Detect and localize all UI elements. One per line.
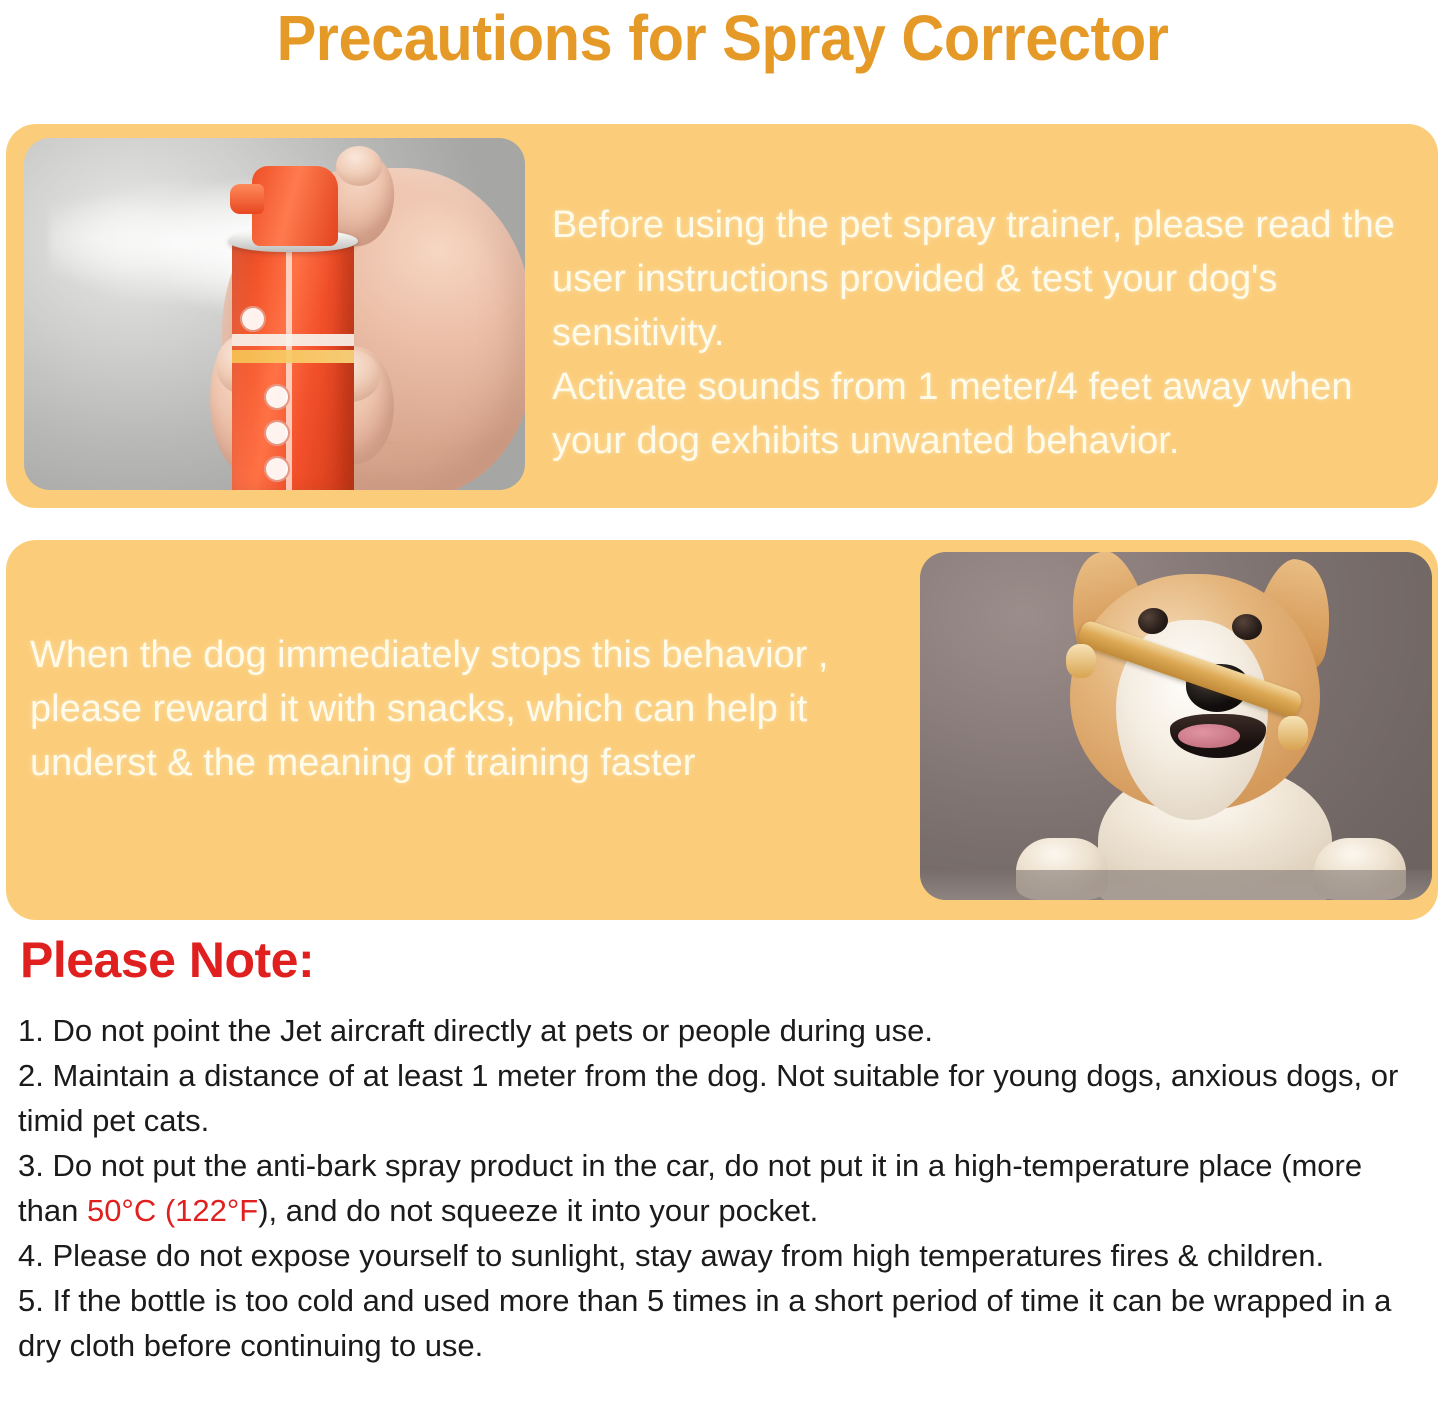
dog-floor-shape: [920, 870, 1432, 900]
spray-can-in-hand-photo: [24, 138, 525, 490]
can-warning-badge-icon: [240, 306, 266, 332]
can-no-heat-badge-icon: [264, 384, 290, 410]
page-title: Precautions for Spray Corrector: [51, 2, 1395, 74]
treat-knot-left-shape: [1066, 644, 1096, 678]
panel-two-text: When the dog immediately stops this beha…: [30, 628, 870, 790]
note-item-2: 2. Maintain a distance of at least 1 met…: [18, 1053, 1430, 1143]
note-item-4: 4. Please do not expose yourself to sunl…: [18, 1233, 1430, 1278]
note-item-5: 5. If the bottle is too cold and used mo…: [18, 1278, 1430, 1368]
note-item-1: 1. Do not point the Jet aircraft directl…: [18, 1008, 1430, 1053]
fingernail-shape: [336, 146, 382, 186]
treat-knot-right-shape: [1278, 716, 1308, 750]
note-item-3-after: ), and do not squeeze it into your pocke…: [258, 1193, 818, 1228]
can-no-flame-badge-icon: [264, 420, 290, 446]
can-white-stripe: [232, 334, 354, 346]
can-nozzle-tip-shape: [230, 184, 264, 214]
dog-tongue-shape: [1178, 724, 1240, 748]
note-list: 1. Do not point the Jet aircraft directl…: [18, 1008, 1430, 1368]
corgi-with-treat-photo: [920, 552, 1432, 900]
can-highlight-stripe: [286, 250, 292, 490]
note-item-3-temperature-highlight: 50°C (122°F: [87, 1193, 258, 1228]
please-note-heading: Please Note:: [20, 931, 314, 989]
can-recycle-badge-icon: [264, 456, 290, 482]
can-nozzle-shape: [252, 166, 338, 246]
note-item-3: 3. Do not put the anti-bark spray produc…: [18, 1143, 1430, 1233]
aerosol-can-shape: [232, 238, 354, 490]
can-gold-stripe: [232, 350, 354, 363]
panel-one-text: Before using the pet spray trainer, plea…: [552, 198, 1408, 468]
